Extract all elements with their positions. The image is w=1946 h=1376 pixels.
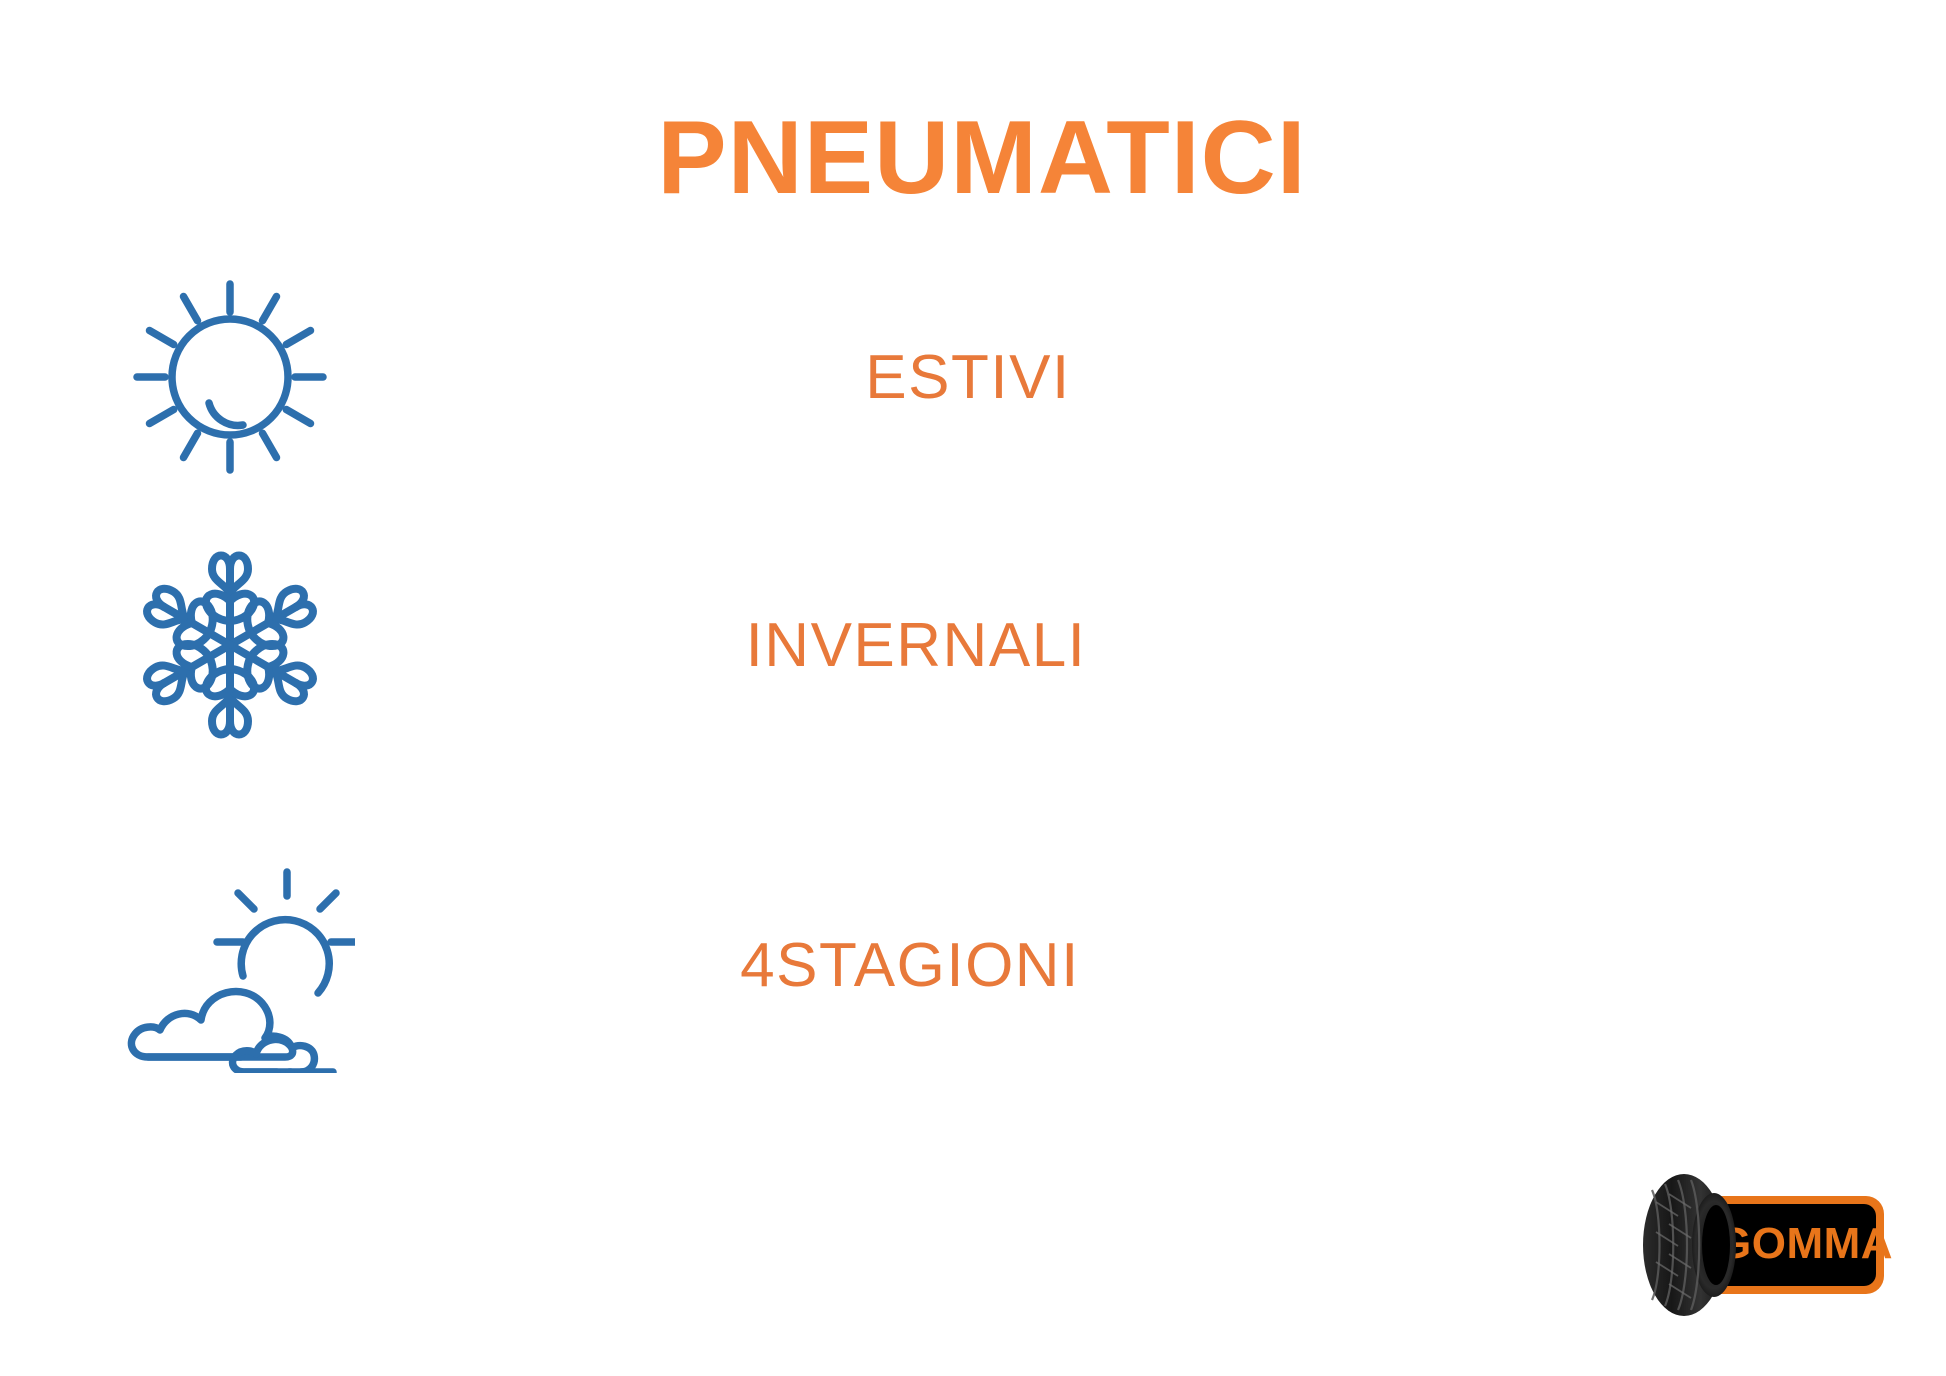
season-label-cell-estivi: ESTIVI <box>548 342 1388 413</box>
season-label-cell-invernali: INVERNALI <box>496 610 1336 681</box>
slide-canvas: PNEUMATICI <box>0 0 1946 1376</box>
regomma-logo: REGOMMA <box>1622 1142 1894 1327</box>
season-row-estivi: ESTIVI <box>0 262 1300 492</box>
season-label-4stagioni: 4STAGIONI <box>740 930 1080 1001</box>
sun-icon <box>0 272 460 482</box>
snowflake-icon <box>0 539 460 751</box>
season-label-cell-4stagioni: 4STAGIONI <box>490 930 1330 1001</box>
season-label-estivi: ESTIVI <box>865 342 1070 413</box>
season-row-4stagioni: 4STAGIONI <box>0 820 1300 1110</box>
season-label-invernali: INVERNALI <box>746 610 1087 681</box>
season-row-invernali: INVERNALI <box>0 530 1300 760</box>
sun-behind-clouds-icon <box>0 858 460 1073</box>
page-title: PNEUMATICI <box>0 106 1946 210</box>
